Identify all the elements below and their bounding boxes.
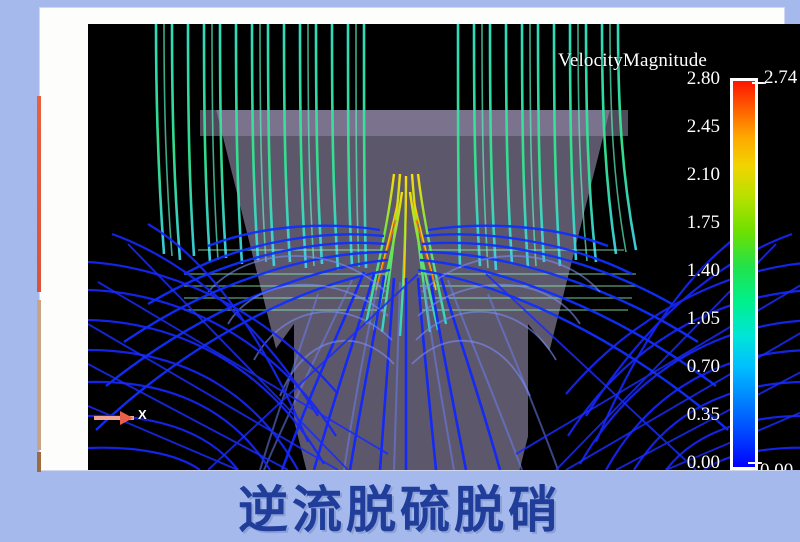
image-frame: VelocityMagnitude 2.80 2.45 2.10 1.75 1.… bbox=[40, 8, 784, 470]
page-caption: 逆流脱硫脱硝 bbox=[0, 470, 800, 542]
left-edge-red-strip bbox=[37, 96, 41, 292]
screenshot-root: VelocityMagnitude 2.80 2.45 2.10 1.75 1.… bbox=[0, 0, 800, 542]
x-axis-arrow-head-icon bbox=[120, 411, 133, 425]
plot-area: VelocityMagnitude 2.80 2.45 2.10 1.75 1.… bbox=[88, 24, 800, 470]
colorbar-min-label: 0.00 bbox=[760, 460, 793, 470]
colorbar-tick-3: 1.75 bbox=[608, 212, 720, 234]
descending-streamlines-pale bbox=[260, 280, 558, 470]
left-edge-brown-strip-lower bbox=[37, 452, 41, 472]
x-axis-label: X bbox=[138, 407, 147, 422]
left-edge-brown-strip bbox=[37, 300, 41, 450]
colorbar-tick-1: 2.45 bbox=[608, 116, 720, 138]
colorbar-tick-5: 1.05 bbox=[608, 308, 720, 330]
colorbar-gradient bbox=[730, 78, 758, 470]
cfd-scene: VelocityMagnitude 2.80 2.45 2.10 1.75 1.… bbox=[88, 24, 800, 470]
colorbar-max-label: 2.74 bbox=[764, 67, 797, 89]
colorbar-tick-8: 0.00 bbox=[608, 452, 720, 470]
colorbar-tick-0: 2.80 bbox=[608, 68, 720, 90]
colorbar-tick-7: 0.35 bbox=[608, 404, 720, 426]
colorbar-tick-labels: 2.80 2.45 2.10 1.75 1.40 1.05 0.70 0.35 … bbox=[608, 64, 720, 470]
colorbar-tick-6: 0.70 bbox=[608, 356, 720, 378]
axis-indicator: X bbox=[94, 407, 158, 431]
colorbar-tick-2: 2.10 bbox=[608, 164, 720, 186]
colorbar-tick-4: 1.40 bbox=[608, 260, 720, 282]
